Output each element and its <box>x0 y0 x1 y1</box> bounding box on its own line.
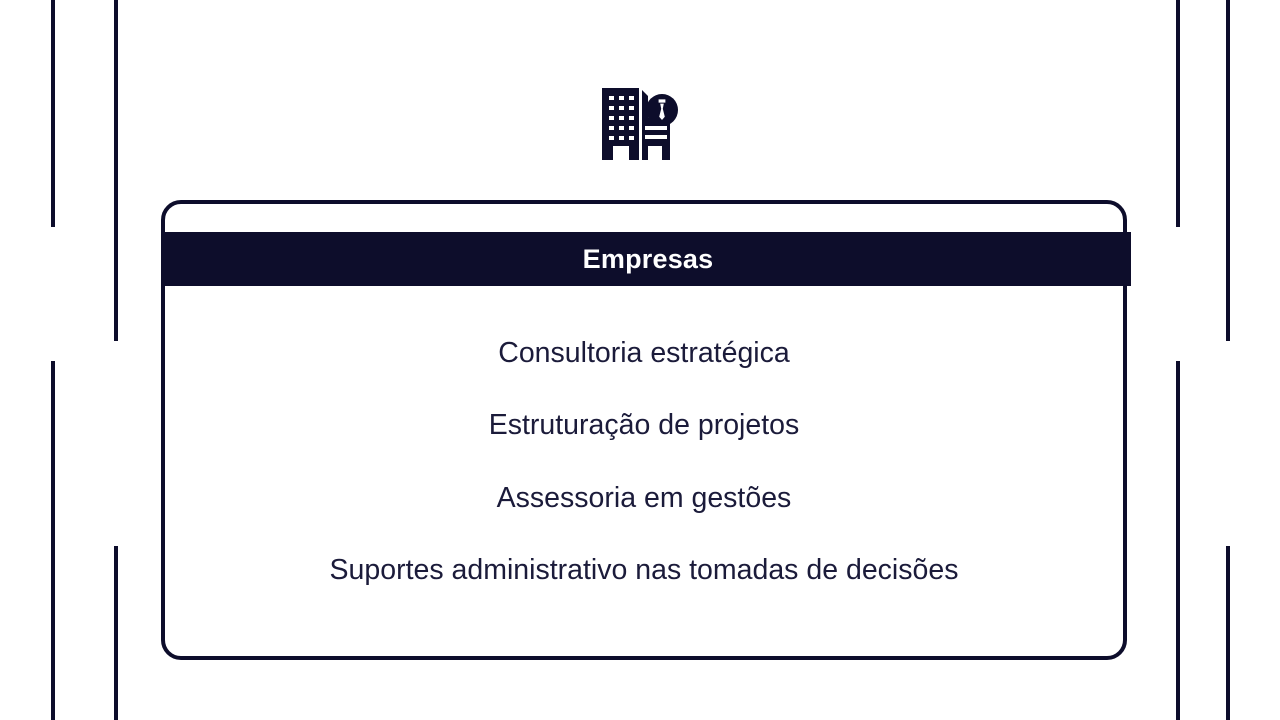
service-item: Consultoria estratégica <box>498 338 790 369</box>
service-item: Suportes administrativo nas tomadas de d… <box>330 555 959 586</box>
service-item: Assessoria em gestões <box>497 483 792 514</box>
left-inner-line-top <box>114 0 118 341</box>
service-item: Estruturação de projetos <box>489 410 800 441</box>
right-outer-line-top <box>1226 0 1230 341</box>
left-inner-line-bottom <box>114 546 118 720</box>
services-list: Consultoria estratégicaEstruturação de p… <box>161 300 1127 656</box>
left-outer-line-top <box>51 0 55 227</box>
right-inner-line-top <box>1176 0 1180 227</box>
right-outer-line-bottom <box>1226 546 1230 720</box>
card-header-band: Empresas <box>165 232 1131 286</box>
right-inner-line-bottom <box>1176 361 1180 720</box>
left-outer-line-bottom <box>51 361 55 720</box>
slide-canvas: Empresas Consultoria estratégicaEstrutur… <box>0 0 1280 720</box>
card-title: Empresas <box>583 246 714 273</box>
office-building-with-tie-icon <box>596 84 684 164</box>
